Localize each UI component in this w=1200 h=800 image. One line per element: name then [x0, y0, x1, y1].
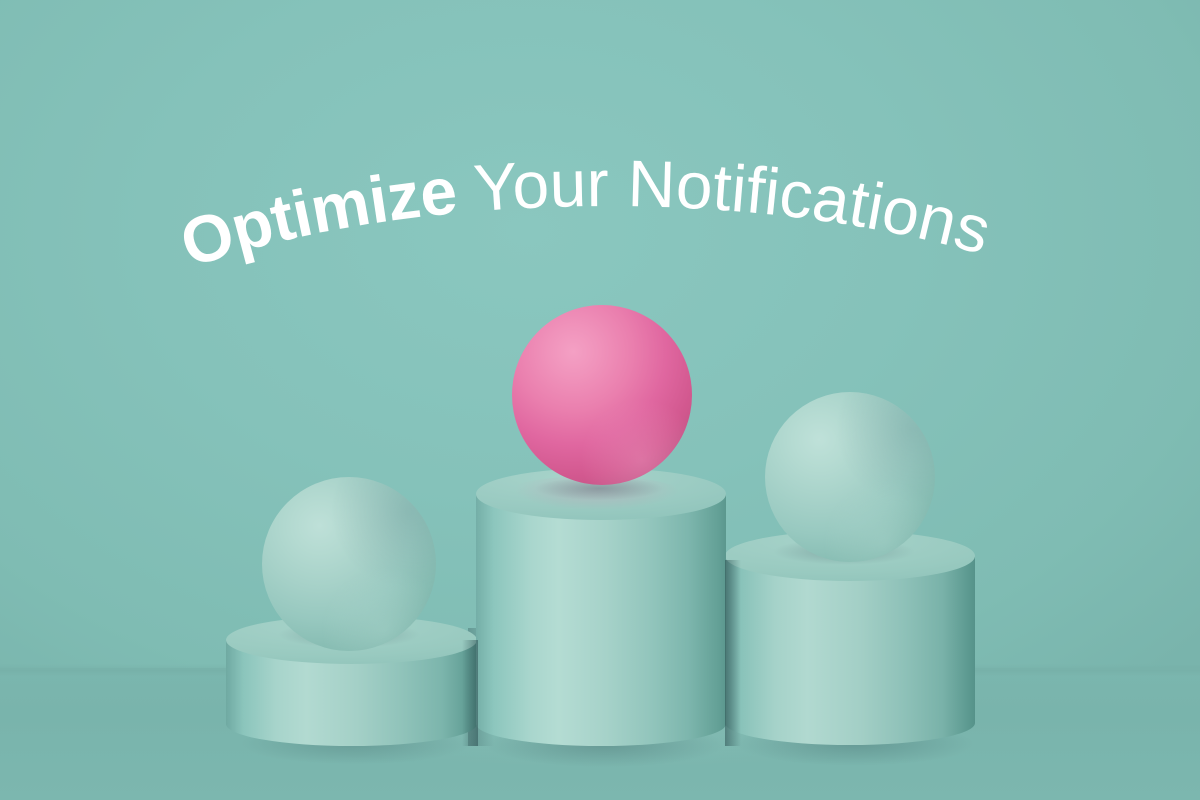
left-sphere-rimlight: [262, 477, 436, 651]
center-podium: [476, 468, 726, 746]
right-sphere: [765, 392, 935, 562]
right-podium-body: [725, 557, 975, 745]
center-to-right-occlusion-shadow: [725, 560, 741, 746]
center-to-left-occlusion-shadow: [462, 640, 478, 746]
pink-sphere-rimlight: [512, 305, 692, 485]
center-sphere-pink: [512, 305, 692, 485]
right-podium: [725, 531, 975, 745]
right-sphere-rimlight: [765, 392, 935, 562]
center-podium-body: [476, 494, 726, 746]
left-sphere: [262, 477, 436, 651]
hero-banner: Optimize Your Notifications: [0, 0, 1200, 800]
